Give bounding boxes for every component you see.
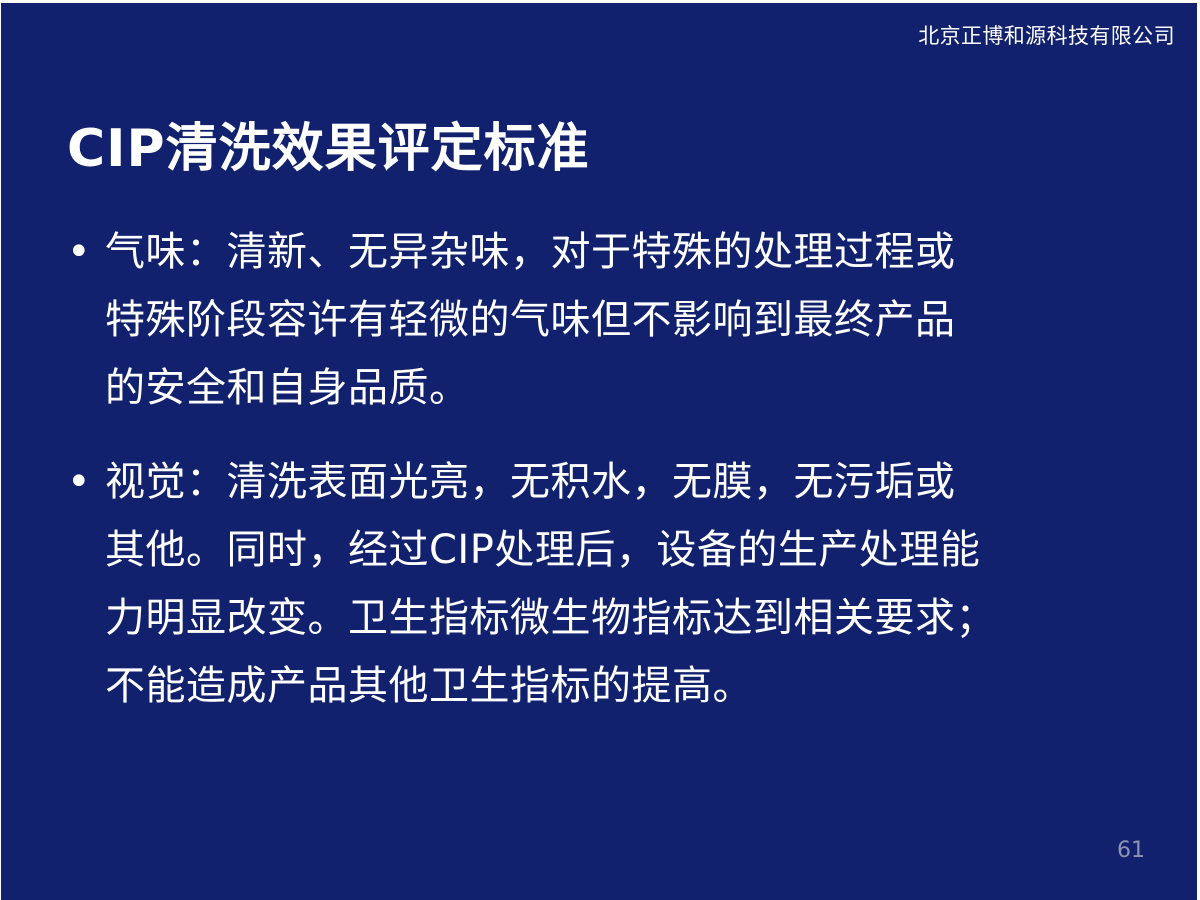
company-header-text: 北京正博和源科技有限公司 bbox=[918, 23, 1175, 49]
bullet-point-icon: • bbox=[59, 448, 105, 516]
text-line: 视觉：清洗表面光亮，无积水，无膜，无污垢或 bbox=[105, 448, 1149, 516]
page-number: 61 bbox=[1117, 838, 1145, 864]
bullet-text-visual: 视觉：清洗表面光亮，无积水，无膜，无污垢或 其他。同时，经过CIP处理后，设备的… bbox=[105, 448, 1149, 720]
bullet-text-odor: 气味：清新、无异杂味，对于特殊的处理过程或 特殊阶段容许有轻微的气味但不影响到最… bbox=[105, 218, 1149, 422]
text-line: 力明显改变。卫生指标微生物指标达到相关要求； bbox=[105, 584, 1149, 652]
page-title: CIP清洗效果评定标准 bbox=[67, 118, 590, 180]
text-line: 不能造成产品其他卫生指标的提高。 bbox=[105, 652, 1149, 720]
list-item: • 气味：清新、无异杂味，对于特殊的处理过程或 特殊阶段容许有轻微的气味但不影响… bbox=[59, 218, 1149, 422]
text-line: 的安全和自身品质。 bbox=[105, 354, 1149, 422]
text-line: 特殊阶段容许有轻微的气味但不影响到最终产品 bbox=[105, 286, 1149, 354]
text-line: 其他。同时，经过CIP处理后，设备的生产处理能 bbox=[105, 516, 1149, 584]
list-item: • 视觉：清洗表面光亮，无积水，无膜，无污垢或 其他。同时，经过CIP处理后，设… bbox=[59, 448, 1149, 720]
bullet-point-icon: • bbox=[59, 218, 105, 286]
text-line: 气味：清新、无异杂味，对于特殊的处理过程或 bbox=[105, 218, 1149, 286]
slide-body: • 气味：清新、无异杂味，对于特殊的处理过程或 特殊阶段容许有轻微的气味但不影响… bbox=[59, 218, 1149, 746]
presentation-slide: 北京正博和源科技有限公司 CIP清洗效果评定标准 • 气味：清新、无异杂味，对于… bbox=[0, 0, 1200, 900]
